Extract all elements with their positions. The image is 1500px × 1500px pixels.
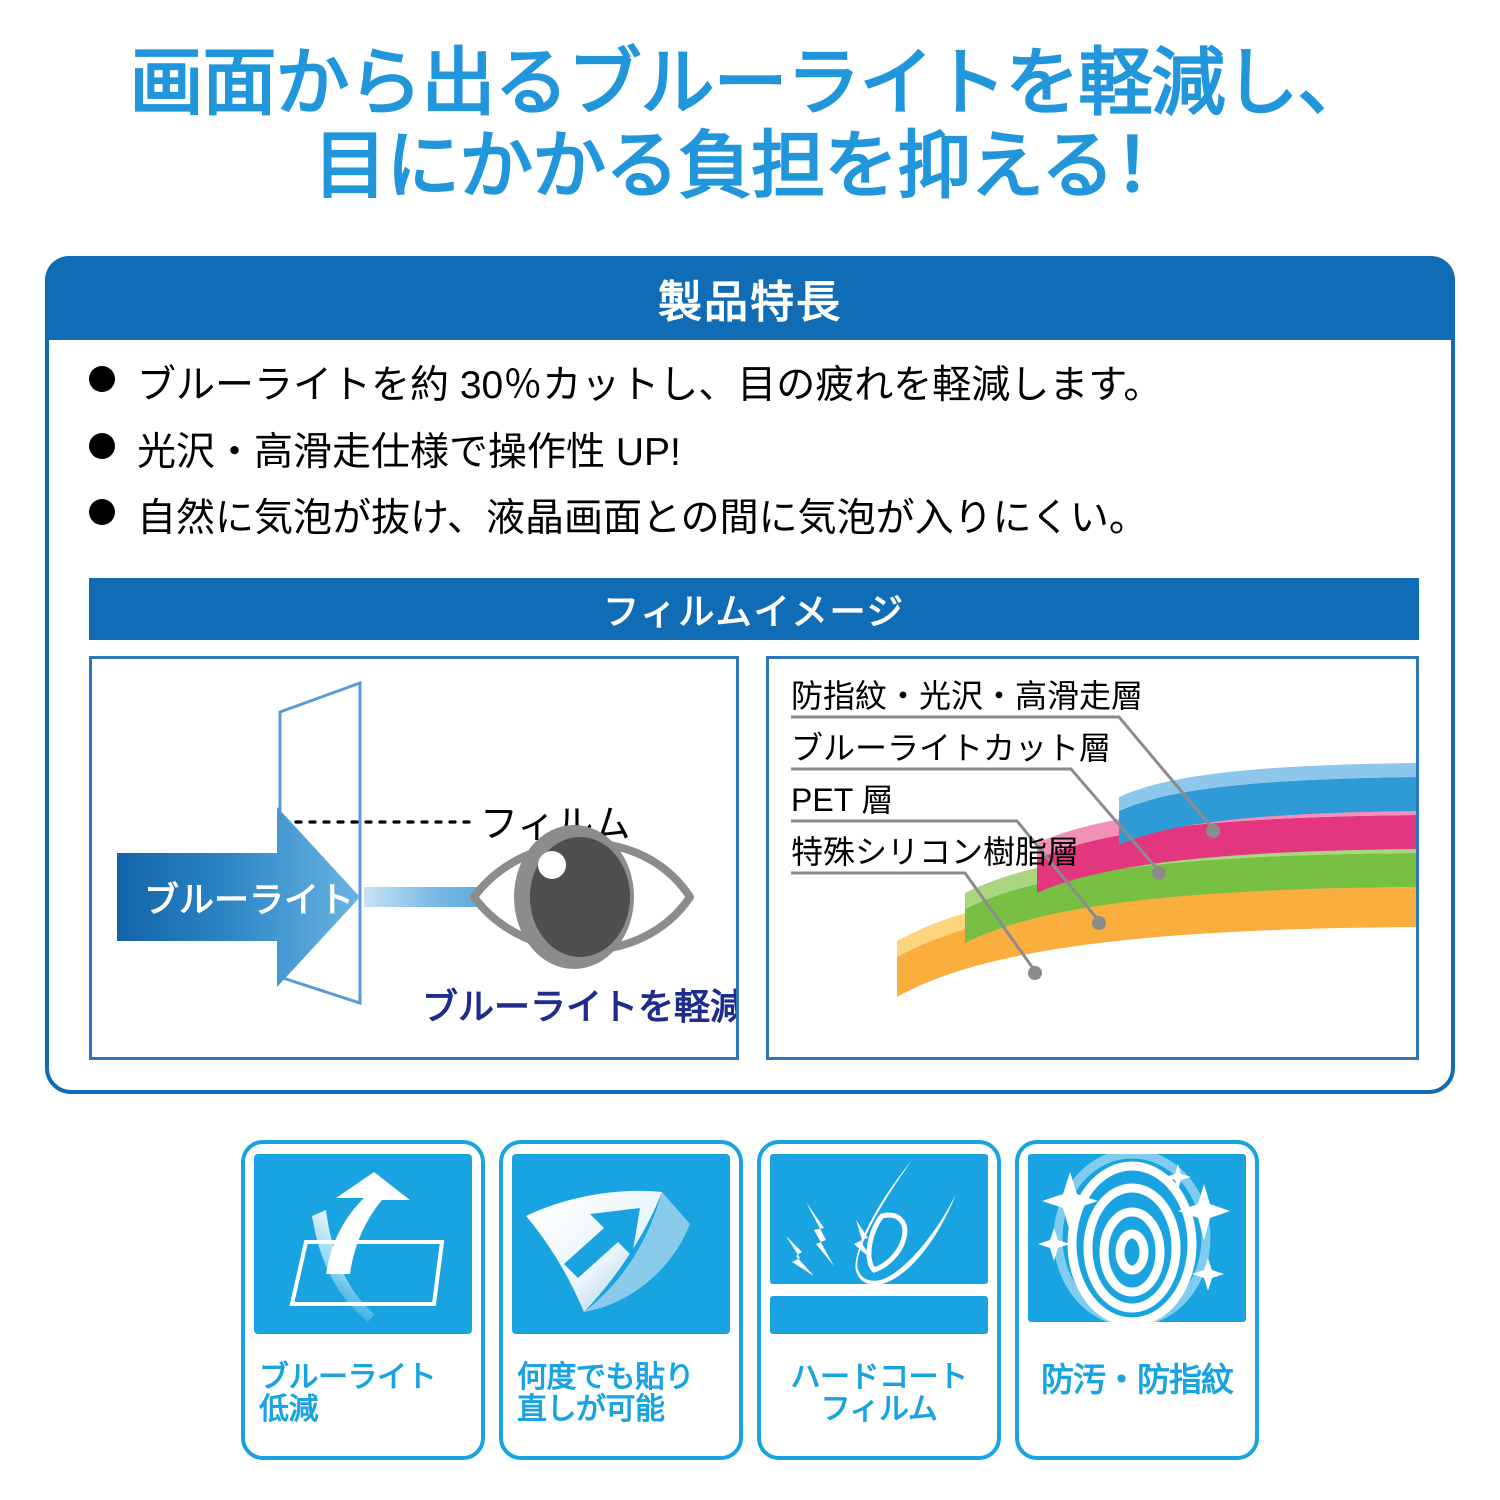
film-eye-diagram-panel: フィルム ブルーライト ブルーライトを軽減 (89, 656, 739, 1060)
feature-label-line-1: 何度でも貼り (517, 1362, 729, 1394)
feature-art (512, 1154, 730, 1356)
feature-bullet-list: ブルーライトを約 30％カットし、目の疲れを軽減します。 光沢・高滑走仕様で操作… (89, 360, 1419, 560)
feature-label-line-1: ハードコート (771, 1362, 987, 1394)
film-image-subheader: フィルムイメージ (89, 578, 1419, 640)
film-eye-diagram: フィルム ブルーライト ブルーライトを軽減 (92, 659, 736, 1057)
bluelight-reduction-icon (254, 1154, 472, 1356)
eye-highlight (538, 851, 566, 879)
bluelight-arrow-label: ブルーライト (144, 880, 354, 920)
product-features-card: 製品特長 ブルーライトを約 30％カットし、目の疲れを軽減します。 光沢・高滑走… (45, 256, 1455, 1094)
bullet-item: 自然に気泡が抜け、液晶画面との間に気泡が入りにくい。 (89, 493, 1419, 546)
feature-label-line-1: ブルーライト (259, 1362, 471, 1394)
bullet-item: ブルーライトを約 30％カットし、目の疲れを軽減します。 (89, 360, 1419, 413)
bullet-dot-icon (89, 366, 115, 392)
layer-label-bluecut: ブルーライトカット層 (791, 730, 1111, 766)
feature-art (770, 1154, 988, 1356)
layer-label-pet: PET 層 (791, 782, 894, 818)
layer-label-silicone: 特殊シリコン樹脂層 (791, 834, 1079, 870)
antifouling-fingerprint-icon (1028, 1154, 1246, 1356)
feature-label-line-1: 防汚・防指紋 (1029, 1362, 1245, 1398)
layer-label-antifingerprint: 防指紋・光沢・高滑走層 (791, 678, 1143, 714)
page-headline: 画面から出るブルーライトを軽減し、 目にかかる負担を抑える！ (0, 42, 1500, 208)
bullet-dot-icon (89, 499, 115, 525)
bullet-text: 光沢・高滑走仕様で操作性 UP! (137, 427, 681, 480)
feature-badge-hard-coat[interactable]: ハードコート フィルム (757, 1140, 1001, 1460)
feature-label-line-2: 低減 (259, 1394, 471, 1426)
feature-badge-bluelight-reduction[interactable]: ブルーライト 低減 (241, 1140, 485, 1460)
feature-label: ハードコート フィルム (771, 1362, 987, 1427)
card-header-title: 製品特長 (658, 266, 842, 330)
headline-line-2: 目にかかる負担を抑える！ (0, 125, 1500, 208)
card-header: 製品特長 (45, 256, 1455, 340)
film-layer-stack-diagram: 防指紋・光沢・高滑走層 ブルーライトカット層 PET 層 特殊シリコン樹脂層 (769, 659, 1416, 1057)
feature-badges-row: ブルーライト 低減 何度でも貼り 直しが可能 (0, 1140, 1500, 1480)
feature-art (254, 1154, 472, 1356)
feature-art (1028, 1154, 1246, 1356)
bullet-item: 光沢・高滑走仕様で操作性 UP! (89, 427, 1419, 480)
headline-line-1: 画面から出るブルーライトを軽減し、 (0, 42, 1500, 125)
film-layer-stack-panel: 防指紋・光沢・高滑走層 ブルーライトカット層 PET 層 特殊シリコン樹脂層 (766, 656, 1419, 1060)
feature-badge-repositionable[interactable]: 何度でも貼り 直しが可能 (499, 1140, 743, 1460)
repositionable-film-icon (512, 1154, 730, 1356)
bullet-dot-icon (89, 433, 115, 459)
feature-label: 防汚・防指紋 (1029, 1362, 1245, 1398)
bullet-text: ブルーライトを約 30％カットし、目の疲れを軽減します。 (137, 360, 1162, 413)
bullet-text: 自然に気泡が抜け、液晶画面との間に気泡が入りにくい。 (137, 493, 1148, 546)
feature-label-line-2: フィルム (771, 1394, 987, 1426)
feature-label: ブルーライト 低減 (255, 1362, 471, 1427)
feature-label: 何度でも貼り 直しが可能 (513, 1362, 729, 1427)
feature-badge-antifouling[interactable]: 防汚・防指紋 (1015, 1140, 1259, 1460)
reduced-light-label: ブルーライトを軽減 (422, 986, 736, 1027)
feature-label-line-2: 直しが可能 (517, 1394, 729, 1426)
hard-coat-icon (770, 1154, 988, 1356)
film-image-subheader-title: フィルムイメージ (603, 583, 905, 635)
